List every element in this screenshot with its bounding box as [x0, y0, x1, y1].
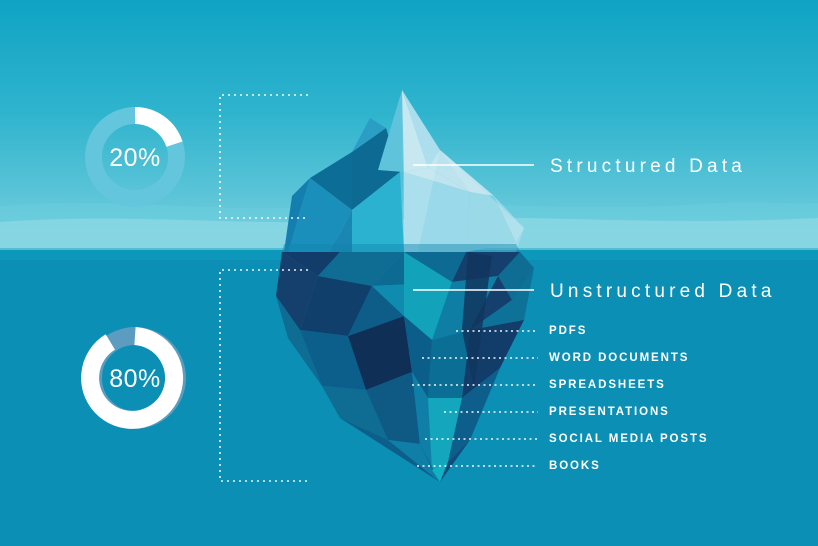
iceberg-illustration	[0, 0, 818, 546]
infographic-canvas: 20% 80% Structured Data Unstructured Dat…	[0, 0, 818, 546]
